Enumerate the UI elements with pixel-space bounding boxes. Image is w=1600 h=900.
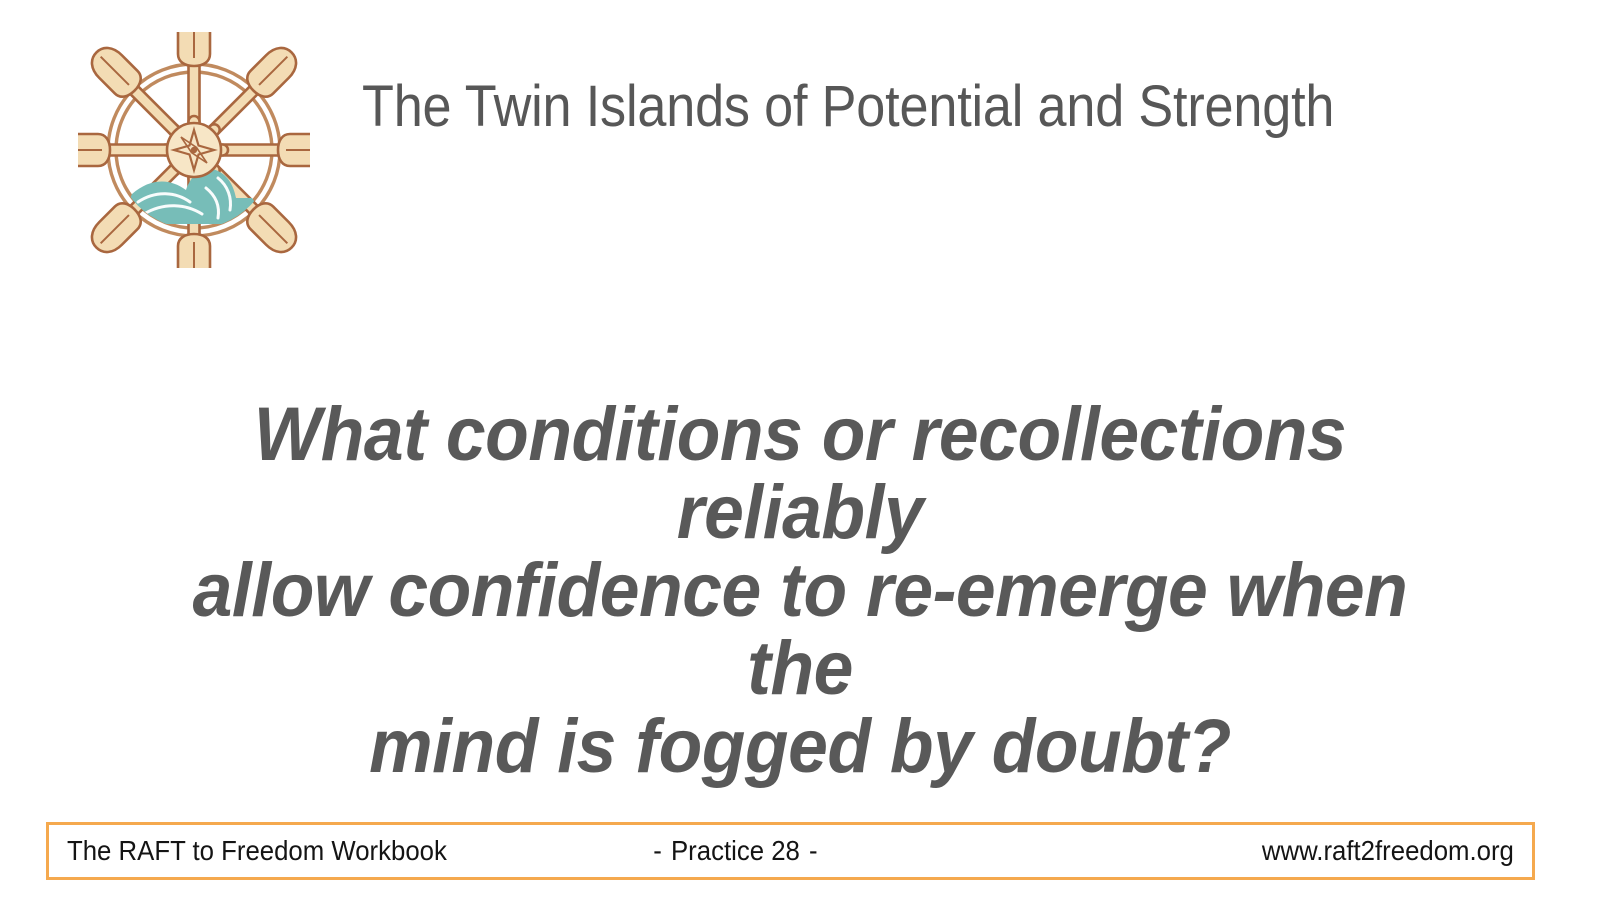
slide-canvas: The Twin Islands of Potential and Streng…	[0, 0, 1600, 900]
page-title: The Twin Islands of Potential and Streng…	[362, 68, 1370, 146]
footer-dash-left: -	[644, 835, 671, 866]
question-line: allow confidence to re-emerge when the	[142, 552, 1458, 708]
footer-dash-right: -	[800, 835, 827, 866]
footer-workbook-label: The RAFT to Freedom Workbook	[67, 835, 447, 867]
footer-practice-group: -Practice 28-	[644, 835, 827, 867]
question-line: What conditions or recollections reliabl…	[142, 396, 1458, 552]
question-line: mind is fogged by doubt?	[142, 708, 1458, 786]
ship-wheel-paddles-waves-logo	[78, 32, 310, 268]
compass-hub-icon	[167, 123, 221, 177]
question-block: What conditions or recollections reliabl…	[100, 396, 1500, 786]
footer-website-link[interactable]: www.raft2freedom.org	[1262, 835, 1514, 867]
footer-bar: The RAFT to Freedom Workbook -Practice 2…	[46, 822, 1535, 880]
footer-practice-label: Practice 28	[671, 835, 800, 866]
